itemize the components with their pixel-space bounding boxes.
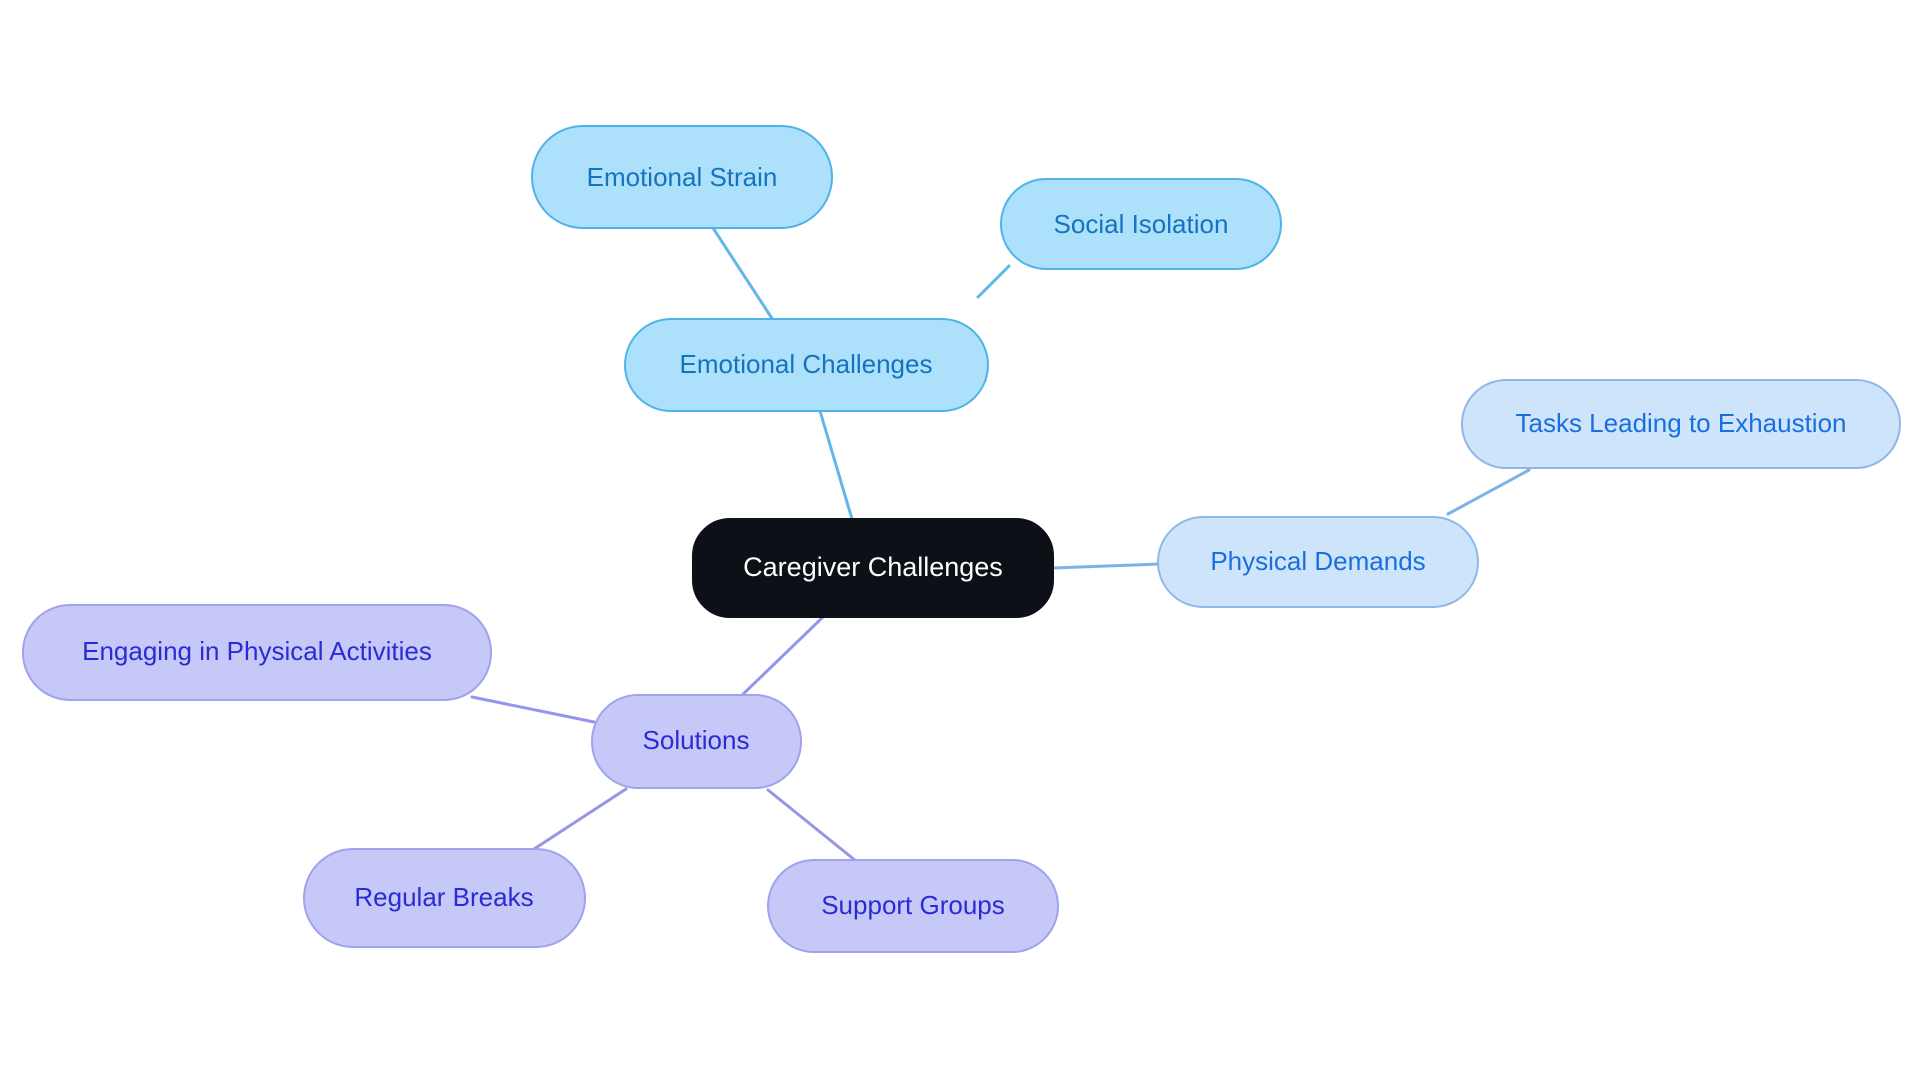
node-engaging-in-physical-activities[interactable]: Engaging in Physical Activities	[23, 605, 491, 700]
node-root-label: Caregiver Challenges	[743, 552, 1003, 582]
node-emotional-challenges-label: Emotional Challenges	[680, 349, 933, 379]
node-support-groups[interactable]: Support Groups	[768, 860, 1058, 952]
node-regular-breaks-label: Regular Breaks	[354, 882, 533, 912]
node-root-caregiver-challenges[interactable]: Caregiver Challenges	[693, 519, 1053, 617]
node-social-isolation[interactable]: Social Isolation	[1001, 179, 1281, 269]
mindmap-diagram: Emotional Strain Social Isolation Emotio…	[0, 0, 1920, 1083]
node-physical-demands-label: Physical Demands	[1210, 546, 1425, 576]
node-emotional-challenges[interactable]: Emotional Challenges	[625, 319, 988, 411]
node-social-isolation-label: Social Isolation	[1054, 209, 1229, 239]
node-solutions[interactable]: Solutions	[592, 695, 801, 788]
node-engaging-in-physical-activities-label: Engaging in Physical Activities	[82, 636, 432, 666]
node-emotional-strain-label: Emotional Strain	[587, 162, 778, 192]
node-tasks-leading-to-exhaustion[interactable]: Tasks Leading to Exhaustion	[1462, 380, 1900, 468]
node-regular-breaks[interactable]: Regular Breaks	[304, 849, 585, 947]
node-tasks-leading-to-exhaustion-label: Tasks Leading to Exhaustion	[1516, 408, 1847, 438]
node-emotional-strain[interactable]: Emotional Strain	[532, 126, 832, 228]
node-solutions-label: Solutions	[643, 725, 750, 755]
node-support-groups-label: Support Groups	[821, 890, 1005, 920]
node-physical-demands[interactable]: Physical Demands	[1158, 517, 1478, 607]
